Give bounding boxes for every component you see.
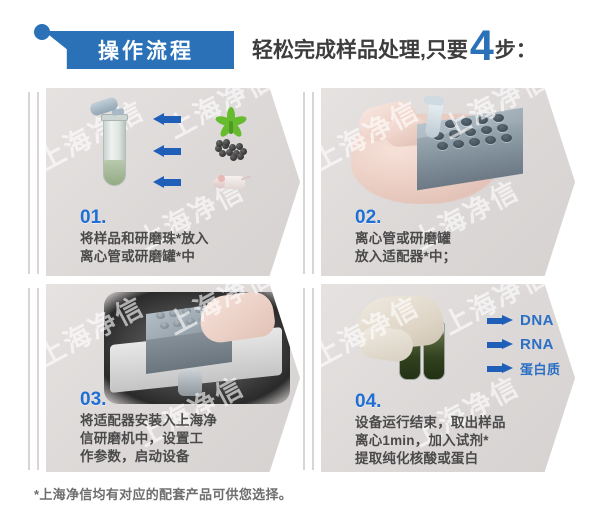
step-description-line: 离心管或研磨罐*中 (80, 248, 290, 266)
infographic-page: 操作流程 轻松完成样品处理,只要 4 步： 上海净信 上海净信 上海净信 (0, 0, 600, 526)
card-accent-rule (303, 288, 305, 470)
banner-title: 操作流程 (44, 31, 234, 69)
step-04-text: 04. 设备运行结束，取出样品 离心1min，加入试剂* 提取纯化核酸或蛋白 (355, 392, 579, 468)
footer-note: *上海净信均有对应的配套产品可供您选择。 (34, 484, 292, 503)
step-description-line: 设备运行结束，取出样品 (355, 414, 579, 432)
headline-prefix: 轻松完成样品处理,只要 (252, 34, 468, 64)
card-accent-rule (312, 92, 314, 274)
section-banner: 操作流程 (34, 25, 234, 69)
card-accent-rule (37, 92, 39, 274)
step-card-04: DNA RNA 蛋白质 上海净信 上海净信 (303, 284, 575, 472)
card-chevron-body: 上海净信 上海净信 上海净信 03. 将适配器安装入上海净 信研磨机中，设置工 … (46, 284, 300, 472)
step-description-line: 离心管或研磨罐 (355, 230, 565, 248)
step-number: 04. (355, 392, 579, 412)
step-card-03: 上海净信 上海净信 上海净信 03. 将适配器安装入上海净 信研磨机中，设置工 … (28, 284, 300, 472)
card-accent-rule (28, 288, 30, 470)
step-description-line: 信研磨机中，设置工 (80, 430, 290, 448)
steps-grid: 上海净信 上海净信 上海净信 (0, 86, 600, 478)
step-02-text: 02. 离心管或研磨罐 放入适配器*中； (355, 208, 565, 266)
headline-suffix: 步： (495, 34, 537, 64)
step-description-line: 将适配器安装入上海净 (80, 412, 290, 430)
step-card-01: 上海净信 上海净信 上海净信 (28, 88, 300, 276)
headline-step-count: 4 (470, 29, 494, 63)
step-number: 01. (80, 208, 290, 228)
step-03-text: 03. 将适配器安装入上海净 信研磨机中，设置工 作参数，启动设备 (80, 390, 290, 466)
card-accent-rule (303, 92, 305, 274)
step-description-line: 提取纯化核酸或蛋白 (355, 450, 579, 468)
card-chevron-body: 上海净信 上海净信 上海净信 02. 离心管或研磨罐 放入适配器*中； (321, 88, 575, 276)
page-headline: 轻松完成样品处理,只要 4 步： (252, 26, 537, 68)
card-accent-rule (312, 288, 314, 470)
step-description-line: 放入适配器*中； (355, 248, 565, 266)
step-01-text: 01. 将样品和研磨珠*放入 离心管或研磨罐*中 (80, 208, 290, 266)
page-header: 操作流程 轻松完成样品处理,只要 4 步： (0, 0, 600, 86)
card-chevron-body: 上海净信 上海净信 上海净信 (46, 88, 300, 276)
step-number: 03. (80, 390, 290, 410)
card-chevron-body: DNA RNA 蛋白质 上海净信 上海净信 (321, 284, 575, 472)
card-accent-rule (28, 92, 30, 274)
step-description-line: 离心1min，加入试剂* (355, 432, 579, 450)
step-description-line: 将样品和研磨珠*放入 (80, 230, 290, 248)
step-description-line: 作参数，启动设备 (80, 448, 290, 466)
step-number: 02. (355, 208, 565, 228)
card-accent-rule (37, 288, 39, 470)
step-card-02: 上海净信 上海净信 上海净信 02. 离心管或研磨罐 放入适配器*中； (303, 88, 575, 276)
